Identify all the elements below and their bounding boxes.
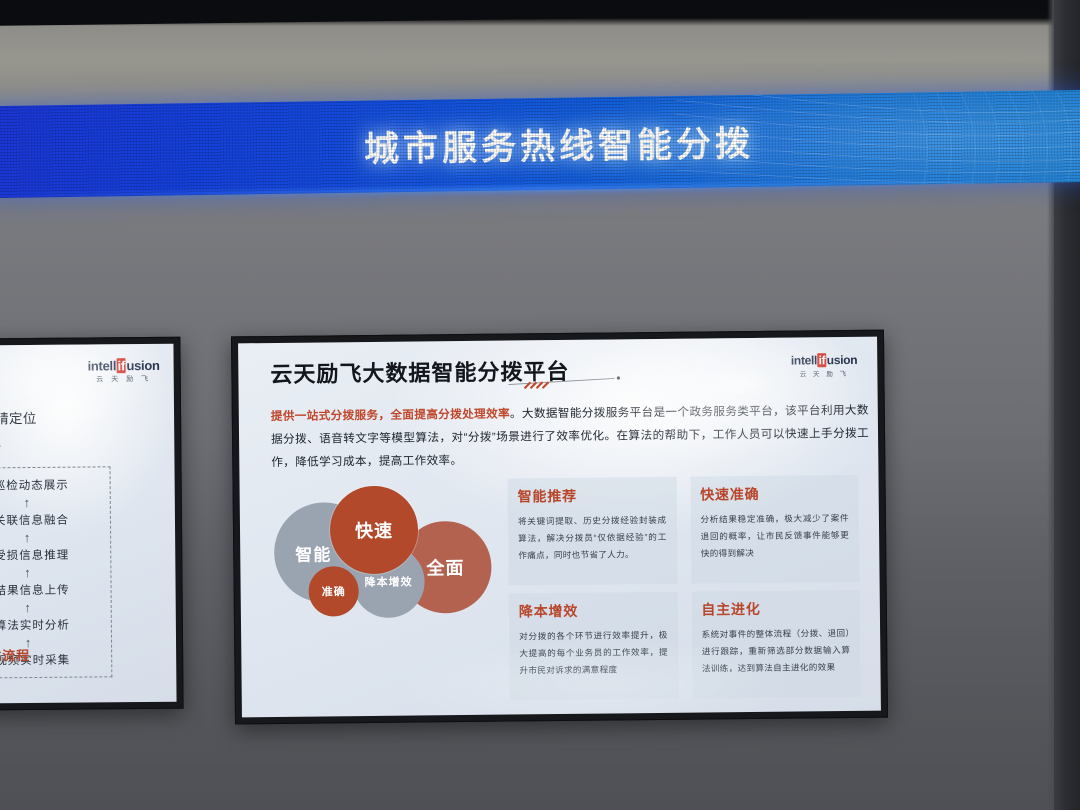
logo-if-badge: if (817, 353, 826, 367)
feature-title: 降本增效 (519, 600, 668, 622)
logo-wordmark: intellifusion (791, 353, 858, 368)
main-poster-header: 云天励飞大数据智能分拨平台 intellifusion 云 (256, 349, 861, 399)
feature-card-grid: 智能推荐 将关键词提取、历史分拨经验封装成算法，解决分拨员“仅依据经验”的工作痛… (507, 475, 864, 701)
main-poster-logo: intellifusion 云 天 励 飞 (791, 353, 858, 379)
feature-description: 将关键词提取、历史分拨经验封装成算法，解决分拨员“仅依据经验”的工作痛点，同时也… (518, 512, 667, 564)
flow-item: 结果信息上传 (0, 582, 70, 599)
flow-item: 受损信息推理 (0, 547, 69, 564)
feature-description: 分析结果稳定准确，极大减少了案件退回的概率，让市民反馈事件能够更快的得到解决 (700, 510, 849, 562)
main-poster-paragraph: 提供一站式分拨服务，全面提高分拨处理效率。大数据智能分拨服务平台是一个政务服务类… (271, 399, 870, 475)
main-poster-sheet: 云天励飞大数据智能分拨平台 intellifusion 云 (238, 337, 881, 718)
left-poster-sheet: intellifusion 云 天 励 飞 AI视觉算法、高精定位 数据流程一体… (0, 344, 177, 704)
flow-item: 算法实时分析 (0, 617, 70, 634)
left-poster-logo: intellifusion 云 天 励 飞 (87, 358, 159, 385)
flow-item: 关联信息融合 (0, 512, 69, 529)
feature-title: 智能推荐 (518, 485, 667, 507)
logo-if-badge: if (117, 358, 126, 373)
feature-title: 自主进化 (701, 598, 850, 620)
feature-description: 系统对事件的整体流程（分拨、退回）进行跟踪，重新筛选部分数据输入算法训练，达到算… (702, 625, 851, 677)
up-arrow-icon: ↑ (24, 531, 31, 544)
exhibition-wall-scene: 城市服务热线智能分拨 intellifusion 云 天 励 飞 AI视觉算法、… (0, 0, 1080, 810)
feature-card-cost-efficiency: 降本增效 对分拨的各个环节进行效率提升，极大提高的每个业务员的工作效率，提升市民… (509, 592, 679, 701)
left-overall-process-label: 整体流程 (0, 645, 30, 665)
logo-text-after: usion (827, 353, 858, 367)
paragraph-accent-text: 提供一站式分拨服务，全面提高分拨处理效率 (271, 408, 510, 424)
feature-card-fast-accurate: 快速准确 分析结果稳定准确，极大减少了案件退回的概率，让市民反馈事件能够更快的得… (690, 475, 860, 584)
flow-item: 巡检动态展示 (0, 477, 69, 494)
up-arrow-icon: ↑ (24, 601, 31, 614)
left-intro-line-2: 数据流程一体化。 (0, 430, 160, 456)
up-arrow-icon: ↑ (24, 496, 31, 509)
feature-card-smart-recommendation: 智能推荐 将关键词提取、历史分拨经验封装成算法，解决分拨员“仅依据经验”的工作痛… (507, 477, 677, 586)
logo-chinese-name: 云 天 励 飞 (791, 368, 858, 379)
main-poster-body: 智能 全面 降本增效 快速 准确 智能推荐 将关键词提取、历史分拨经验封装成算法… (258, 475, 865, 703)
bubble-accurate: 准确 (308, 566, 359, 617)
up-arrow-icon: ↑ (24, 566, 31, 579)
feature-description: 对分拨的各个环节进行效率提升，极大提高的每个业务员的工作效率，提升市民对诉求的满… (519, 627, 668, 679)
bubble-diagram: 智能 全面 降本增效 快速 准确 (258, 479, 510, 704)
logo-text-after: usion (126, 358, 159, 373)
logo-wordmark: intellifusion (87, 358, 159, 374)
main-poster-content: 云天励飞大数据智能分拨平台 intellifusion 云 (256, 349, 865, 703)
left-intro-line-1: AI视觉算法、高精定位 (0, 406, 160, 432)
feature-card-self-evolution: 自主进化 系统对事件的整体流程（分拨、退回）进行跟踪，重新筛选部分数据输入算法训… (691, 590, 861, 699)
ceiling-strip (0, 0, 1080, 26)
logo-chinese-name: 云 天 励 飞 (88, 374, 160, 385)
title-decoration-line (508, 375, 628, 390)
logo-text-before: intell (791, 353, 817, 367)
bubble-fast: 快速 (330, 485, 419, 574)
feature-title: 快速准确 (700, 483, 849, 505)
left-intro-text: AI视觉算法、高精定位 数据流程一体化。 (0, 406, 160, 456)
main-poster-panel: 云天励飞大数据智能分拨平台 intellifusion 云 (231, 330, 888, 725)
logo-text-before: intell (87, 358, 116, 373)
left-poster-panel: intellifusion 云 天 励 飞 AI视觉算法、高精定位 数据流程一体… (0, 337, 184, 712)
